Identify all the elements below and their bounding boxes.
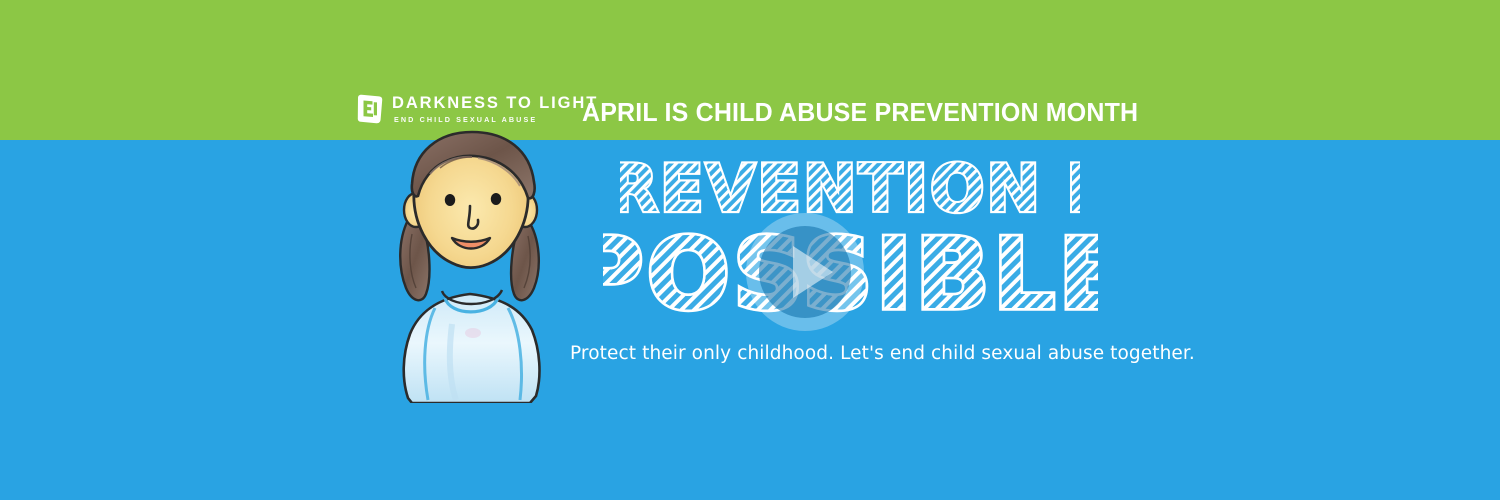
logo-wordmark: DARKNESS TO LIGHT <box>392 94 598 112</box>
child-illustration <box>378 128 570 403</box>
video-play-overlay[interactable] <box>745 212 865 332</box>
hero-tagline: Protect their only childhood. Let's end … <box>570 342 1130 366</box>
logo-text: DARKNESS TO LIGHT END CHILD SEXUAL ABUSE <box>392 93 598 125</box>
video-banner: DARKNESS TO LIGHT END CHILD SEXUAL ABUSE… <box>0 0 1500 500</box>
awareness-month-headline: APRIL IS CHILD ABUSE PREVENTION MONTH <box>582 95 1138 129</box>
logo-tagline: END CHILD SEXUAL ABUSE <box>394 114 537 125</box>
darkness-to-light-logo-mark <box>357 94 383 124</box>
play-triangle-icon <box>745 212 865 332</box>
darkness-to-light-logo[interactable]: DARKNESS TO LIGHT END CHILD SEXUAL ABUSE <box>357 93 598 133</box>
